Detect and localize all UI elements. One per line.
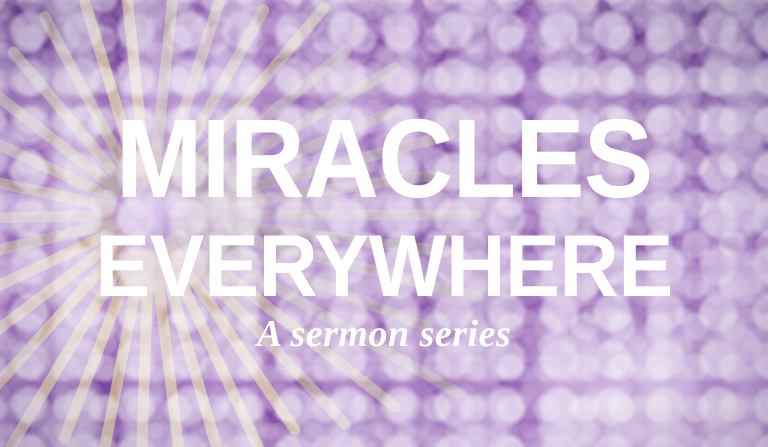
- poster-title-line-2: EVERYWHERE: [25, 222, 743, 310]
- poster-subtitle: A sermon series: [0, 312, 768, 356]
- poster-text-block: MIRACLES EVERYWHERE A sermon series: [0, 0, 768, 447]
- poster-title-line-1: MIRACLES: [27, 103, 741, 215]
- sermon-series-poster: MIRACLES EVERYWHERE A sermon series: [0, 0, 768, 447]
